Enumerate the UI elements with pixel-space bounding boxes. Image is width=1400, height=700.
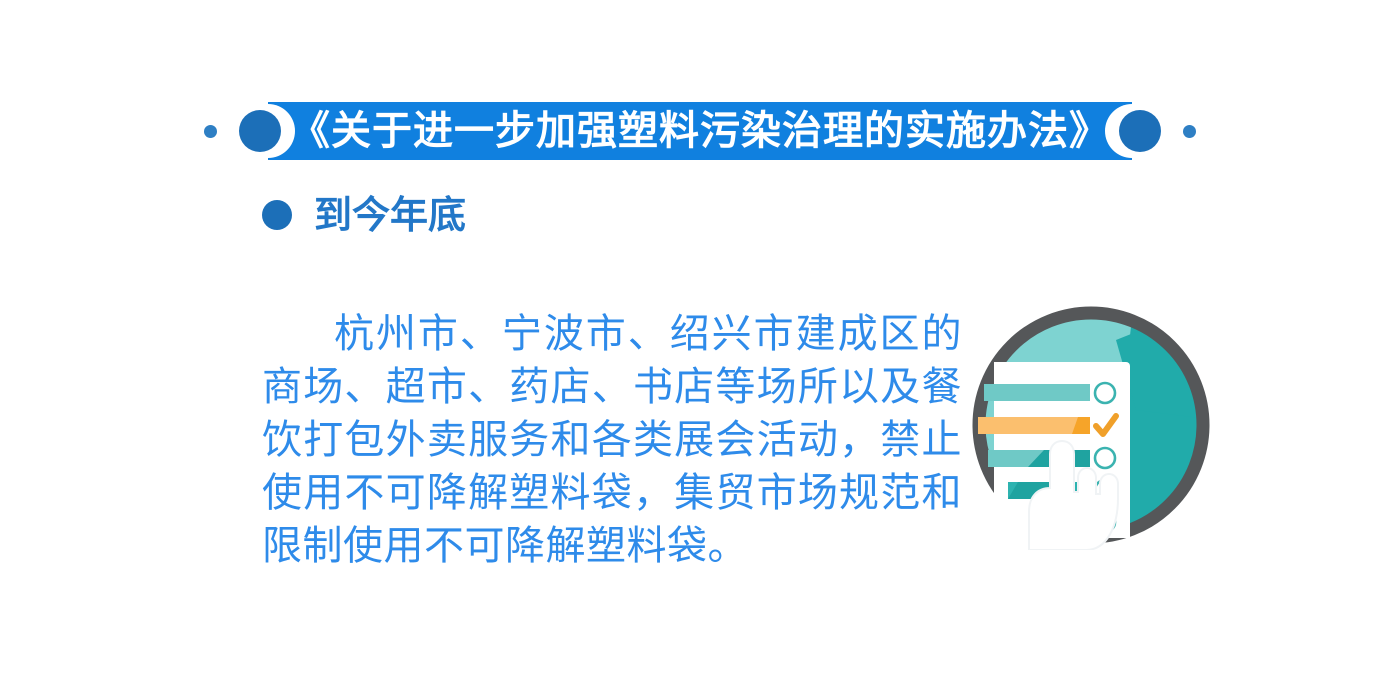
decorative-dot-small-right	[1183, 125, 1196, 138]
right-pinstripes	[1000, 556, 1010, 668]
right-buildings	[1192, 356, 1392, 668]
decorative-dot-small-left	[204, 125, 217, 138]
title-banner-row: 《关于进一步加强塑料污染治理的实施办法》	[0, 96, 1400, 166]
decorative-dot-large-right	[1119, 110, 1161, 152]
checklist-row-bar-1	[984, 384, 1090, 401]
page-title: 《关于进一步加强塑料污染治理的实施办法》	[290, 111, 1110, 151]
spacer-left	[217, 131, 239, 132]
decorative-dot-large-left	[239, 110, 281, 152]
checklist-illustration	[966, 300, 1216, 550]
section-heading-row: 到今年底	[262, 196, 466, 234]
section-body-text: 杭州市、宁波市、绍兴市建成区的商场、超市、药店、书店等场所以及餐饮打包外卖服务和…	[262, 308, 962, 573]
spacer-right	[1161, 131, 1183, 132]
title-banner: 《关于进一步加强塑料污染治理的实施办法》	[268, 102, 1132, 160]
section-heading: 到今年底	[314, 196, 466, 234]
bullet-dot-icon	[262, 200, 292, 230]
slide-canvas: 《关于进一步加强塑料污染治理的实施办法》 到今年底 杭州市、宁波市、绍兴市建成区…	[0, 0, 1400, 700]
